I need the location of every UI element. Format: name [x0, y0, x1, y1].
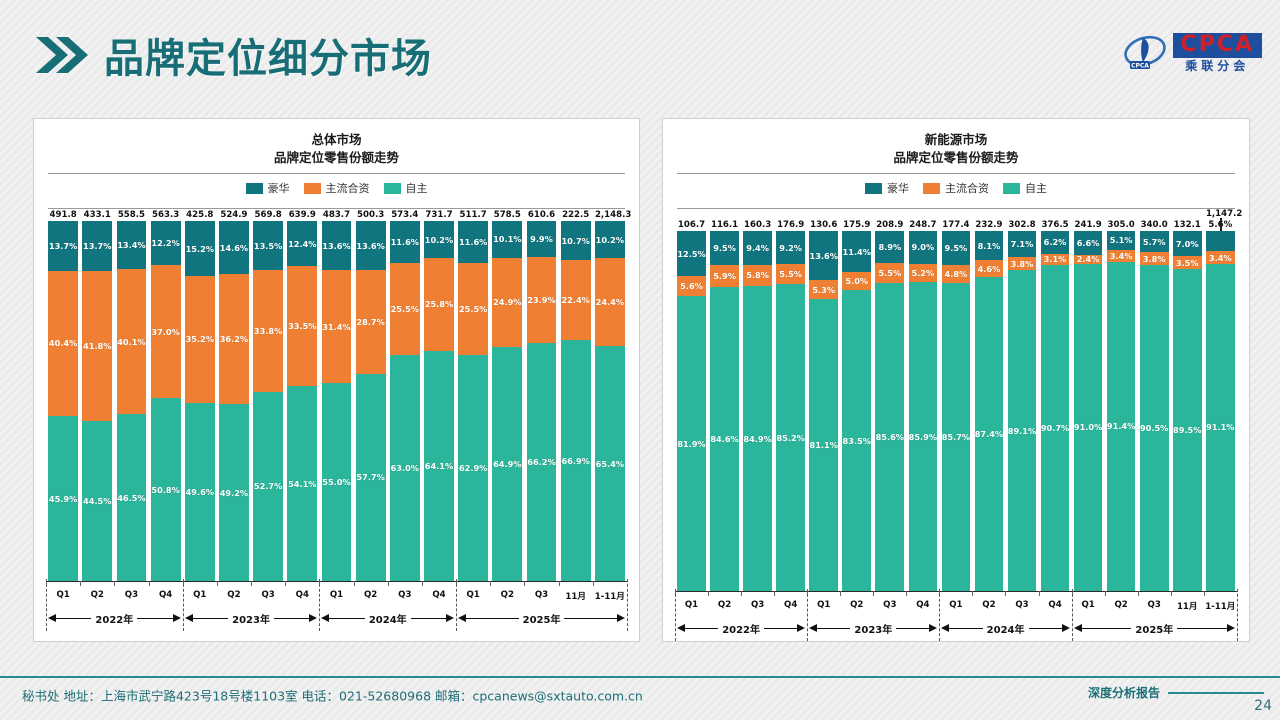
bar-segment-label: 8.9% — [878, 242, 901, 252]
bar-segment-label: 33.5% — [288, 321, 316, 331]
bar-segment-label: 13.5% — [254, 241, 282, 251]
bar-segment-label: 3.4% — [1209, 253, 1232, 263]
bar-segment-label: 87.4% — [975, 429, 1003, 439]
bar-column[interactable]: 731.710.2%25.8%64.1% — [422, 209, 456, 581]
stacked-bar[interactable]: 6.2%3.1%90.7% — [1041, 231, 1070, 591]
bar-total-label: 483.7 — [322, 209, 352, 221]
bar-segment-own[interactable]: 64.1% — [424, 351, 454, 582]
axis-tick-label: Q1 — [456, 581, 490, 602]
bar-column[interactable]: 569.813.5%33.8%52.7% — [251, 209, 285, 581]
bar-segment-joint[interactable]: 3.8% — [1140, 252, 1169, 266]
bar-segment-lux[interactable]: 6.2% — [1041, 231, 1070, 253]
bar-total-label: 340.0 — [1140, 219, 1169, 231]
bar-total-label: 302.8 — [1008, 219, 1037, 231]
stacked-bar[interactable]: 9.2%5.5%85.2% — [776, 231, 805, 591]
bar-column[interactable]: 160.39.4%5.8%84.9% — [741, 219, 774, 591]
bar-column[interactable]: 511.711.6%25.5%62.9% — [456, 209, 490, 581]
bar-segment-label: 3.8% — [1143, 254, 1166, 264]
bar-total-label: 132.1 — [1173, 219, 1202, 231]
bar-segment-label: 7.1% — [1011, 239, 1034, 249]
arrow-right-icon — [1227, 624, 1235, 632]
bar-segment-own[interactable]: 84.6% — [710, 287, 739, 592]
legend-item-own[interactable]: 自主 — [1003, 180, 1047, 196]
arrow-right-icon — [1062, 624, 1070, 632]
bar-segment-joint[interactable]: 3.5% — [1173, 256, 1202, 269]
bar-column[interactable]: 130.613.6%5.3%81.1% — [807, 219, 840, 591]
year-group-row: 2022年2023年2024年2025年 — [675, 615, 1237, 641]
bar-column[interactable]: 241.96.6%2.4%91.0% — [1072, 219, 1105, 591]
page-title: 品牌定位细分市场 — [104, 26, 432, 84]
bar-segment-joint[interactable]: 35.2% — [185, 276, 215, 403]
axis-tick-label: Q3 — [1005, 591, 1038, 612]
axis-tick-label: Q3 — [388, 581, 422, 602]
bar-segment-joint[interactable]: 2.4% — [1074, 255, 1103, 264]
bar-segment-label: 3.1% — [1044, 254, 1067, 264]
stacked-bar[interactable]: 11.6%25.5%63.0% — [390, 221, 420, 581]
bar-segment-label: 25.5% — [459, 304, 487, 314]
bar-total-label: 433.1 — [82, 209, 112, 221]
bar-segment-own[interactable]: 85.7% — [942, 283, 971, 592]
arrow-left-icon — [458, 614, 466, 622]
bar-segment-lux[interactable]: 13.6% — [322, 221, 352, 270]
legend-item-lux[interactable]: 豪华 — [865, 180, 909, 196]
stacked-bar[interactable]: 6.6%2.4%91.0% — [1074, 231, 1103, 591]
axis-tick-label: 1-11月 — [1204, 591, 1237, 612]
bar-segment-own[interactable]: 90.7% — [1041, 265, 1070, 592]
legend-item-lux[interactable]: 豪华 — [246, 180, 290, 196]
bar-column[interactable]: 563.312.2%37.0%50.8% — [149, 209, 183, 581]
bar-column[interactable]: 1,147.25.6%5.6%3.4%91.1% — [1204, 209, 1237, 591]
bar-segment-joint[interactable]: 24.4% — [595, 258, 625, 346]
axis-tick-label: Q4 — [149, 581, 183, 602]
bar-segment-joint[interactable]: 33.5% — [287, 266, 317, 387]
bar-segment-joint[interactable]: 25.5% — [458, 263, 488, 355]
bar-segment-joint[interactable]: 22.4% — [561, 260, 591, 341]
bar-segment-lux[interactable]: 11.6% — [390, 221, 420, 263]
legend-swatch-joint — [923, 183, 940, 194]
bar-segment-lux[interactable]: 5.6% — [1206, 231, 1235, 251]
double-chevron-right-icon — [34, 34, 90, 76]
axis-tick-row: Q1Q2Q3Q4Q1Q2Q3Q4Q1Q2Q3Q4Q1Q2Q311月1-11月 — [675, 591, 1237, 612]
stacked-bar[interactable]: 13.4%40.1%46.5% — [117, 221, 147, 581]
bar-segment-own[interactable]: 46.5% — [117, 414, 147, 581]
bar-column[interactable]: 483.713.6%31.4%55.0% — [319, 209, 353, 581]
bar-segment-own[interactable]: 87.4% — [975, 277, 1004, 591]
bar-segment-lux[interactable]: 12.5% — [677, 231, 706, 276]
bar-segment-lux[interactable]: 9.9% — [527, 221, 557, 257]
plot-area: 491.813.7%40.4%45.9%433.113.7%41.8%44.5%… — [46, 209, 627, 581]
bar-segment-joint[interactable]: 5.3% — [809, 280, 838, 299]
stacked-bar[interactable]: 9.9%23.9%66.2% — [527, 221, 557, 581]
bar-segment-lux[interactable]: 13.6% — [356, 221, 386, 270]
stacked-bar[interactable]: 10.2%25.8%64.1% — [424, 221, 454, 581]
bar-segment-lux[interactable]: 9.5% — [710, 231, 739, 265]
bar-segment-own[interactable]: 85.2% — [776, 284, 805, 591]
year-group: 2024年 — [939, 615, 1071, 641]
bar-segment-lux[interactable]: 13.5% — [253, 221, 283, 270]
arrow-right-icon — [173, 614, 181, 622]
year-group-label: 2023年 — [850, 621, 896, 636]
year-group-label: 2024年 — [365, 611, 411, 626]
year-separator — [627, 579, 628, 631]
year-group: 2024年 — [319, 605, 456, 631]
bar-segment-own[interactable]: 90.5% — [1140, 265, 1169, 591]
bar-segment-joint[interactable]: 5.8% — [743, 265, 772, 286]
bar-segment-joint[interactable]: 24.9% — [492, 258, 522, 348]
bar-segment-own[interactable]: 89.5% — [1173, 269, 1202, 591]
bar-segment-lux[interactable]: 13.7% — [48, 221, 78, 270]
arrow-left-icon — [321, 614, 329, 622]
bar-segment-lux[interactable]: 12.4% — [287, 221, 317, 266]
chart-legend: 豪华主流合资自主 — [671, 174, 1241, 202]
bar-column[interactable]: 340.05.7%3.8%90.5% — [1138, 219, 1171, 591]
bar-column[interactable]: 500.313.6%28.7%57.7% — [354, 209, 388, 581]
stacked-bar[interactable]: 5.6%3.4%91.1% — [1206, 231, 1235, 591]
bar-series-container: 106.712.5%5.6%81.9%116.19.5%5.9%84.6%160… — [675, 209, 1237, 591]
bar-segment-label: 91.1% — [1206, 422, 1234, 432]
bar-total-label: 175.9 — [842, 219, 871, 231]
bar-column[interactable]: 177.49.5%4.8%85.7% — [939, 219, 972, 591]
bar-segment-label: 15.2% — [186, 244, 214, 254]
bar-column[interactable]: 132.17.0%3.5%89.5% — [1171, 219, 1204, 591]
bar-segment-own[interactable]: 50.8% — [151, 398, 181, 581]
bar-segment-own[interactable]: 66.9% — [561, 340, 591, 581]
bar-segment-label: 35.2% — [186, 334, 214, 344]
bar-segment-joint[interactable]: 5.6% — [677, 276, 706, 296]
bar-total-label: 222.5 — [561, 209, 591, 221]
stacked-bar[interactable]: 12.5%5.6%81.9% — [677, 231, 706, 591]
stacked-bar[interactable]: 7.0%3.5%89.5% — [1173, 231, 1202, 591]
stacked-bar[interactable]: 13.6%5.3%81.1% — [809, 231, 838, 591]
stacked-bar[interactable]: 10.2%24.4%65.4% — [595, 221, 625, 581]
bar-segment-lux[interactable]: 9.4% — [743, 231, 772, 265]
bar-segment-lux[interactable]: 7.0% — [1173, 231, 1202, 256]
legend-label-joint: 主流合资 — [945, 180, 989, 196]
bar-segment-label: 85.7% — [942, 432, 970, 442]
bar-segment-lux[interactable]: 14.6% — [219, 221, 249, 274]
year-group-label: 2022年 — [718, 621, 764, 636]
bar-segment-label: 40.4% — [49, 338, 77, 348]
stacked-bar[interactable]: 11.6%25.5%62.9% — [458, 221, 488, 581]
bar-segment-own[interactable]: 81.9% — [677, 296, 706, 591]
arrow-right-icon — [617, 614, 625, 622]
bar-column[interactable]: 248.79.0%5.2%85.9% — [906, 219, 939, 591]
bar-segment-lux[interactable]: 9.5% — [942, 231, 971, 265]
stacked-bar[interactable]: 13.5%33.8%52.7% — [253, 221, 283, 581]
bar-segment-label: 9.2% — [779, 243, 802, 253]
bar-total-label: 491.8 — [48, 209, 78, 221]
footer-contact-text: 秘书处 地址：上海市武宁路423号18号楼1103室 电话：021-526809… — [22, 686, 643, 705]
bar-segment-own[interactable]: 91.0% — [1074, 264, 1103, 592]
bar-segment-label: 7.0% — [1176, 239, 1199, 249]
legend-label-own: 自主 — [406, 180, 428, 196]
bar-segment-label: 33.8% — [254, 326, 282, 336]
year-group-label: 2024年 — [983, 621, 1029, 636]
bar-segment-lux[interactable]: 8.9% — [875, 231, 904, 263]
bar-column[interactable]: 116.19.5%5.9%84.6% — [708, 219, 741, 591]
bar-segment-own[interactable]: 54.1% — [287, 386, 317, 581]
axis-tick-label: 11月 — [1171, 591, 1204, 612]
bar-segment-lux[interactable]: 13.4% — [117, 221, 147, 269]
bar-segment-joint[interactable]: 25.5% — [390, 263, 420, 355]
bar-column[interactable]: 175.911.4%5.0%83.5% — [840, 219, 873, 591]
bar-column[interactable]: 610.69.9%23.9%66.2% — [524, 209, 558, 581]
bar-column[interactable]: 578.510.1%24.9%64.9% — [490, 209, 524, 581]
stacked-bar[interactable]: 13.6%28.7%57.7% — [356, 221, 386, 581]
axis-tick-label: Q2 — [972, 591, 1005, 612]
bar-segment-own[interactable]: 91.1% — [1206, 264, 1235, 592]
stacked-bar[interactable]: 9.4%5.8%84.9% — [743, 231, 772, 591]
bar-total-label: 639.9 — [287, 209, 317, 221]
bar-segment-label: 10.2% — [596, 235, 624, 245]
year-separator — [1072, 589, 1073, 641]
year-separator — [183, 579, 184, 631]
bar-column[interactable]: 573.411.6%25.5%63.0% — [388, 209, 422, 581]
stacked-bar[interactable]: 13.6%31.4%55.0% — [322, 221, 352, 581]
axis-tick-label: Q3 — [114, 581, 148, 602]
bar-segment-lux[interactable]: 10.7% — [561, 221, 591, 260]
slide-header: 品牌定位细分市场 — [34, 26, 432, 84]
bar-column[interactable]: 433.113.7%41.8%44.5% — [80, 209, 114, 581]
bar-segment-own[interactable]: 45.9% — [48, 416, 78, 581]
legend-item-joint[interactable]: 主流合资 — [923, 180, 989, 196]
x-axis: Q1Q2Q3Q4Q1Q2Q3Q4Q1Q2Q3Q4Q1Q2Q311月1-11月20… — [46, 581, 627, 639]
bar-column[interactable]: 305.05.1%3.4%91.4% — [1105, 219, 1138, 591]
year-group: 2022年 — [675, 615, 807, 641]
bar-segment-lux[interactable]: 13.6% — [809, 231, 838, 280]
legend-swatch-own — [1003, 183, 1020, 194]
bar-segment-own[interactable]: 91.4% — [1107, 262, 1136, 591]
stacked-bar[interactable]: 8.9%5.5%85.6% — [875, 231, 904, 591]
chart-subtitle: 品牌定位零售份额走势 — [42, 149, 631, 167]
bar-segment-label: 46.5% — [117, 493, 145, 503]
bar-segment-lux[interactable]: 10.2% — [424, 221, 454, 258]
legend-label-own: 自主 — [1025, 180, 1047, 196]
bar-segment-label: 10.2% — [425, 235, 453, 245]
stacked-bar[interactable]: 9.5%4.8%85.7% — [942, 231, 971, 591]
stacked-bar[interactable]: 10.7%22.4%66.9% — [561, 221, 591, 581]
cpca-logo-main: CPCA — [1173, 33, 1262, 58]
bar-segment-joint[interactable]: 3.8% — [1008, 257, 1037, 271]
bar-segment-lux[interactable]: 9.0% — [909, 231, 938, 263]
bar-segment-label: 22.4% — [561, 295, 589, 305]
bar-segment-lux[interactable]: 7.1% — [1008, 231, 1037, 257]
bar-segment-own[interactable]: 85.9% — [909, 282, 938, 591]
bar-segment-own[interactable]: 49.6% — [185, 403, 215, 582]
bar-segment-label: 85.6% — [876, 432, 904, 442]
bar-segment-label: 83.5% — [843, 436, 871, 446]
bar-segment-lux[interactable]: 11.6% — [458, 221, 488, 263]
bar-segment-lux[interactable]: 11.4% — [842, 231, 871, 272]
bar-column[interactable]: 491.813.7%40.4%45.9% — [46, 209, 80, 581]
bar-segment-lux[interactable]: 9.2% — [776, 231, 805, 264]
bar-segment-joint[interactable]: 37.0% — [151, 265, 181, 398]
bar-segment-lux[interactable]: 12.2% — [151, 221, 181, 265]
bar-segment-joint[interactable]: 40.1% — [117, 269, 147, 413]
bar-segment-lux[interactable]: 10.1% — [492, 221, 522, 257]
stacked-bar[interactable]: 11.4%5.0%83.5% — [842, 231, 871, 591]
bar-segment-label: 66.2% — [527, 457, 555, 467]
stacked-bar[interactable]: 13.7%41.8%44.5% — [82, 221, 112, 581]
bar-segment-lux[interactable]: 8.1% — [975, 231, 1004, 260]
stacked-bar[interactable]: 8.1%4.6%87.4% — [975, 231, 1004, 591]
bar-segment-own[interactable]: 55.0% — [322, 383, 352, 581]
year-group: 2025年 — [1072, 615, 1237, 641]
legend-item-joint[interactable]: 主流合资 — [304, 180, 370, 196]
bar-column[interactable]: 425.815.2%35.2%49.6% — [183, 209, 217, 581]
stacked-bar[interactable]: 5.1%3.4%91.4% — [1107, 231, 1136, 591]
bar-total-label: 511.7 — [458, 209, 488, 221]
chart-title-main: 新能源市场 — [671, 131, 1241, 149]
chart-legend: 豪华主流合资自主 — [42, 174, 631, 202]
axis-tick-label: Q4 — [906, 591, 939, 612]
stacked-bar[interactable]: 13.7%40.4%45.9% — [48, 221, 78, 581]
bar-series-container: 491.813.7%40.4%45.9%433.113.7%41.8%44.5%… — [46, 209, 627, 581]
bar-total-label: 425.8 — [185, 209, 215, 221]
bar-segment-own[interactable]: 83.5% — [842, 290, 871, 591]
bar-segment-joint[interactable]: 5.2% — [909, 264, 938, 283]
bar-segment-joint[interactable]: 4.8% — [942, 265, 971, 282]
bar-segment-lux[interactable]: 6.6% — [1074, 231, 1103, 255]
bar-segment-own[interactable]: 52.7% — [253, 392, 283, 582]
bar-segment-label: 13.7% — [83, 241, 111, 251]
bar-segment-lux[interactable]: 10.2% — [595, 221, 625, 258]
bar-segment-own[interactable]: 65.4% — [595, 346, 625, 581]
stacked-bar[interactable]: 10.1%24.9%64.9% — [492, 221, 522, 581]
cpca-emblem-icon: CPCA — [1123, 32, 1167, 72]
bar-column[interactable]: 302.87.1%3.8%89.1% — [1005, 219, 1038, 591]
chart-subtitle: 品牌定位零售份额走势 — [671, 149, 1241, 167]
bar-segment-label: 85.2% — [776, 433, 804, 443]
bar-segment-joint[interactable]: 40.4% — [48, 271, 78, 416]
bar-segment-joint[interactable]: 5.5% — [875, 263, 904, 283]
bar-segment-label: 10.7% — [561, 236, 589, 246]
bar-segment-joint[interactable]: 28.7% — [356, 270, 386, 373]
bar-segment-label: 13.6% — [322, 241, 350, 251]
bar-segment-label: 5.9% — [713, 271, 736, 281]
bar-total-label: 160.3 — [743, 219, 772, 231]
stacked-bar[interactable]: 9.5%5.9%84.6% — [710, 231, 739, 591]
bar-column[interactable]: 376.56.2%3.1%90.7% — [1039, 219, 1072, 591]
bar-segment-joint[interactable]: 23.9% — [527, 257, 557, 343]
bar-segment-label: 31.4% — [322, 322, 350, 332]
bar-column[interactable]: 176.99.2%5.5%85.2% — [774, 219, 807, 591]
legend-label-lux: 豪华 — [887, 180, 909, 196]
bar-segment-lux[interactable]: 13.7% — [82, 221, 112, 270]
year-separator — [939, 589, 940, 641]
bar-total-label: 176.9 — [776, 219, 805, 231]
bar-segment-label: 49.2% — [220, 488, 248, 498]
bar-segment-label: 10.1% — [493, 234, 521, 244]
stacked-bar[interactable]: 7.1%3.8%89.1% — [1008, 231, 1037, 591]
axis-tick-label: Q1 — [46, 581, 80, 602]
chart-title: 新能源市场品牌定位零售份额走势 — [671, 125, 1241, 167]
bar-segment-joint[interactable]: 3.4% — [1107, 250, 1136, 262]
bar-segment-label: 84.6% — [710, 434, 738, 444]
bar-segment-label: 6.6% — [1077, 238, 1100, 248]
year-separator — [807, 589, 808, 641]
bar-segment-own[interactable]: 66.2% — [527, 343, 557, 581]
bar-segment-label: 24.9% — [493, 297, 521, 307]
bar-segment-label: 40.1% — [117, 337, 145, 347]
bar-column[interactable]: 524.914.6%36.2%49.2% — [217, 209, 251, 581]
bar-segment-joint[interactable]: 31.4% — [322, 270, 352, 383]
bar-segment-joint[interactable]: 36.2% — [219, 274, 249, 404]
bar-segment-own[interactable]: 64.9% — [492, 347, 522, 581]
legend-swatch-joint — [304, 183, 321, 194]
legend-label-lux: 豪华 — [268, 180, 290, 196]
stacked-bar[interactable]: 5.7%3.8%90.5% — [1140, 231, 1169, 591]
bar-segment-label: 9.0% — [911, 242, 934, 252]
bar-segment-label: 91.4% — [1107, 421, 1135, 431]
arrow-left-icon — [677, 624, 685, 632]
bar-segment-joint[interactable]: 3.4% — [1206, 251, 1235, 263]
arrow-left-icon — [809, 624, 817, 632]
bar-column[interactable]: 639.912.4%33.5%54.1% — [285, 209, 319, 581]
bar-segment-own[interactable]: 63.0% — [390, 355, 420, 582]
legend-swatch-lux — [246, 183, 263, 194]
bar-segment-own[interactable]: 44.5% — [82, 421, 112, 581]
bar-segment-lux[interactable]: 5.7% — [1140, 231, 1169, 252]
bar-segment-label: 25.5% — [391, 304, 419, 314]
bar-column[interactable]: 558.513.4%40.1%46.5% — [114, 209, 148, 581]
stacked-bar[interactable]: 9.0%5.2%85.9% — [909, 231, 938, 591]
bar-total-label: 116.1 — [710, 219, 739, 231]
bar-segment-own[interactable]: 57.7% — [356, 374, 386, 582]
bar-total-label: 610.6 — [527, 209, 557, 221]
bar-segment-label: 3.5% — [1176, 258, 1199, 268]
bar-segment-label: 11.6% — [459, 237, 487, 247]
bar-segment-own[interactable]: 85.6% — [875, 283, 904, 591]
bar-segment-label: 81.9% — [677, 439, 705, 449]
bar-segment-own[interactable]: 89.1% — [1008, 270, 1037, 591]
bar-segment-joint[interactable]: 33.8% — [253, 270, 283, 392]
bar-segment-joint[interactable]: 5.9% — [710, 265, 739, 286]
bar-segment-joint[interactable]: 5.5% — [776, 264, 805, 284]
stacked-bar[interactable]: 12.2%37.0%50.8% — [151, 221, 181, 581]
axis-tick-label: Q4 — [1039, 591, 1072, 612]
axis-tick-label: Q3 — [251, 581, 285, 602]
legend-item-own[interactable]: 自主 — [384, 180, 428, 196]
stacked-bar[interactable]: 14.6%36.2%49.2% — [219, 221, 249, 581]
bar-segment-label: 5.3% — [812, 285, 835, 295]
bar-segment-lux[interactable]: 5.1% — [1107, 231, 1136, 249]
bar-column[interactable]: 208.98.9%5.5%85.6% — [873, 219, 906, 591]
bar-segment-own[interactable]: 84.9% — [743, 286, 772, 591]
bar-segment-joint[interactable]: 4.6% — [975, 260, 1004, 277]
bar-column[interactable]: 106.712.5%5.6%81.9% — [675, 219, 708, 591]
bar-segment-own[interactable]: 81.1% — [809, 299, 838, 591]
stacked-bar[interactable]: 12.4%33.5%54.1% — [287, 221, 317, 581]
bar-segment-joint[interactable]: 5.0% — [842, 272, 871, 290]
axis-tick-label: Q1 — [319, 581, 353, 602]
bar-column[interactable]: 2,148.310.2%24.4%65.4% — [593, 209, 627, 581]
bar-segment-label: 90.7% — [1041, 423, 1069, 433]
bar-segment-joint[interactable]: 25.8% — [424, 258, 454, 351]
bar-column[interactable]: 222.510.7%22.4%66.9% — [559, 209, 593, 581]
axis-tick-label: Q2 — [1105, 591, 1138, 612]
bar-column[interactable]: 232.98.1%4.6%87.4% — [972, 219, 1005, 591]
bar-segment-lux[interactable]: 15.2% — [185, 221, 215, 276]
bar-segment-joint[interactable]: 3.1% — [1041, 254, 1070, 265]
bar-total-label: 241.9 — [1074, 219, 1103, 231]
bar-segment-own[interactable]: 62.9% — [458, 355, 488, 581]
bar-segment-label: 24.4% — [596, 297, 624, 307]
stacked-bar[interactable]: 15.2%35.2%49.6% — [185, 221, 215, 581]
bar-segment-label: 12.4% — [288, 239, 316, 249]
bar-segment-joint[interactable]: 41.8% — [82, 271, 112, 421]
bar-segment-own[interactable]: 49.2% — [219, 404, 249, 581]
